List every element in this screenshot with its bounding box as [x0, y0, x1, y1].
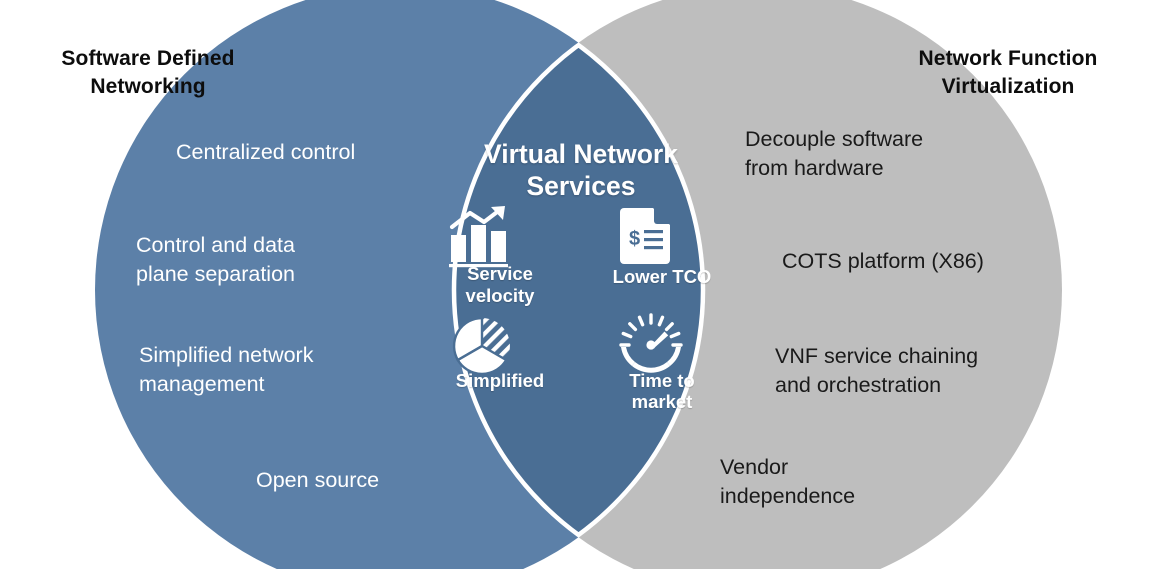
benefit-service-velocity: Service velocity [421, 202, 579, 306]
nfv-item-vendor-independence: Vendor independence [720, 453, 855, 510]
sdn-item-simplified-network-management: Simplified network management [139, 341, 313, 398]
benefit-label: Time to market [629, 370, 694, 413]
sdn-item-open-source: Open source [256, 466, 379, 495]
benefit-label: Simplified [456, 370, 544, 391]
benefit-simplified: Simplified [421, 306, 579, 426]
nfv-item-cots-platform: COTS platform (X86) [782, 247, 984, 276]
nfv-item-vnf-service-chaining: VNF service chaining and orchestration [775, 342, 978, 399]
sdn-item-control-data-plane-separation: Control and data plane separation [136, 231, 295, 288]
benefit-lower-tco: Lower TCO [583, 202, 741, 306]
benefit-list: Service velocity Lower TCO Simplified Ti… [421, 202, 741, 442]
left-circle-title: Software Defined Networking [18, 45, 278, 100]
overlap-title-virtual-network-services: Virtual Network Services [421, 138, 741, 203]
benefit-label: Lower TCO [613, 266, 712, 287]
benefit-label: Service velocity [466, 263, 535, 306]
nfv-item-decouple-software-from-hardware: Decouple software from hardware [745, 125, 923, 182]
benefit-time-to-market: Time to market [583, 306, 741, 426]
right-circle-title: Network Function Virtualization [873, 45, 1143, 100]
sdn-item-centralized-control: Centralized control [176, 138, 355, 167]
venn-diagram: $ [0, 0, 1157, 569]
